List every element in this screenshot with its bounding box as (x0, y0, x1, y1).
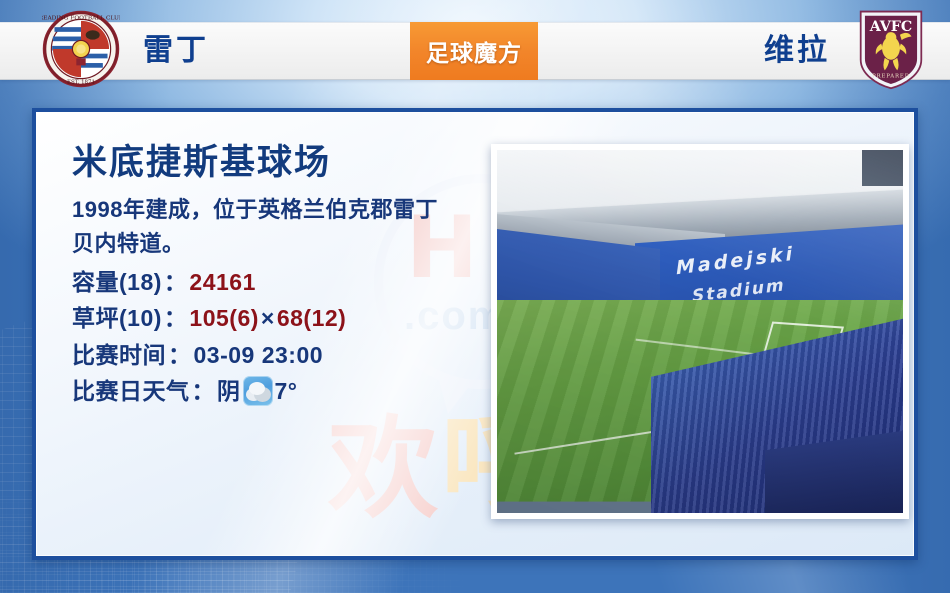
pitch-label: 草坪(10) (72, 300, 162, 336)
stadium-title: 米底捷斯基球场 (72, 144, 452, 181)
photo-light-gradient (497, 150, 903, 513)
aston-villa-crest-icon: AVFC PREPARED (854, 8, 928, 90)
match-header: READING FOOTBALL CLUB EST. 1871 雷丁 足球魔方 … (0, 0, 950, 100)
screenshot-stage: READING FOOTBALL CLUB EST. 1871 雷丁 足球魔方 … (0, 0, 950, 593)
capacity-label: 容量(18) (72, 264, 162, 300)
pitch-row: 草坪(10) ： 105(6) × 68(12) (72, 300, 452, 336)
svg-text:PREPARED: PREPARED (872, 74, 910, 80)
stadium-description: 1998年建成，位于英格兰伯克郡雷丁贝内特道。 (72, 193, 452, 260)
site-logo[interactable]: 足球魔方 (410, 22, 538, 80)
home-team-name: 雷丁 (143, 22, 209, 80)
match-time-separator: ： (166, 337, 194, 373)
pitch-width-value: 68(12) (277, 300, 346, 336)
madejski-stadium-photo: Madejski Stadium (497, 150, 903, 513)
match-weather-row: 比赛日天气 ： 阴 7° (72, 373, 452, 409)
match-temperature: 7° (275, 373, 298, 409)
stadium-photo-frame: Madejski Stadium (491, 144, 909, 519)
match-time-row: 比赛时间 ： 03-09 23:00 (72, 337, 452, 373)
pitch-dimension-multiply: × (259, 300, 277, 336)
reading-fc-crest-icon: READING FOOTBALL CLUB EST. 1871 (42, 10, 120, 88)
match-weather-label: 比赛日天气 (72, 373, 190, 409)
stadium-info-panel: H .com 欢 呼 米底捷斯基球场 1998年建成，位于英格兰伯克郡雷丁贝内特… (32, 108, 918, 560)
svg-text:EST. 1871: EST. 1871 (67, 79, 95, 85)
capacity-value: 24161 (189, 264, 255, 300)
pitch-separator: ： (162, 300, 190, 336)
match-time-label: 比赛时间 (72, 337, 166, 373)
site-logo-text: 足球魔方 (426, 34, 522, 68)
pitch-length-value: 105(6) (189, 300, 258, 336)
cloudy-weather-icon (243, 376, 273, 406)
match-time-value: 03-09 23:00 (194, 337, 324, 373)
svg-text:READING FOOTBALL CLUB: READING FOOTBALL CLUB (42, 15, 120, 21)
match-weather-separator: ： (190, 373, 218, 409)
match-weather-condition: 阴 (217, 373, 241, 409)
away-team-name: 维拉 (764, 22, 830, 80)
stadium-info-text: 米底捷斯基球场 1998年建成，位于英格兰伯克郡雷丁贝内特道。 容量(18) ：… (72, 144, 452, 409)
capacity-separator: ： (162, 264, 190, 300)
capacity-row: 容量(18) ： 24161 (72, 264, 452, 300)
